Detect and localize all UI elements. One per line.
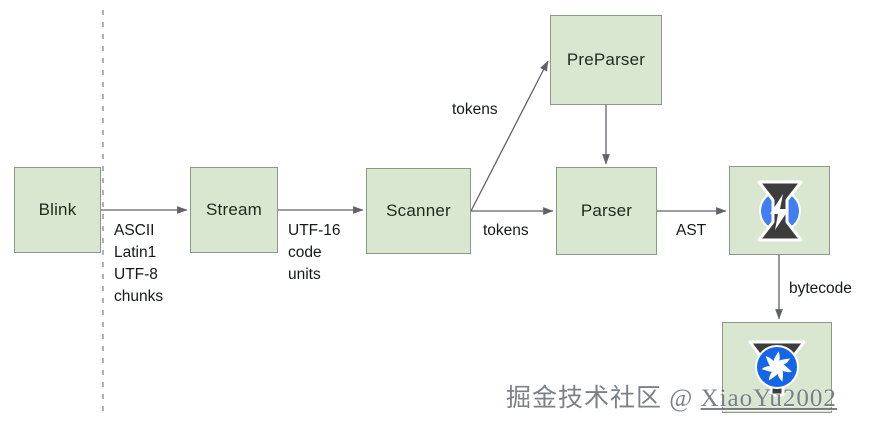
node-scanner-label: Scanner: [386, 201, 451, 221]
node-parser-label: Parser: [581, 201, 632, 221]
diagram-canvas: Blink Stream Scanner PreParser Parser: [0, 0, 874, 429]
edge-label-blink-stream: ASCII Latin1 UTF-8 chunks: [114, 220, 163, 308]
node-preparser[interactable]: PreParser: [550, 15, 662, 105]
edge-scanner-to-preparser: [471, 61, 548, 211]
node-scanner[interactable]: Scanner: [366, 168, 471, 254]
edge-label-scanner-parser: tokens: [483, 220, 529, 242]
node-blink-label: Blink: [39, 200, 77, 220]
node-ignition[interactable]: [729, 166, 830, 255]
node-stream-label: Stream: [206, 200, 262, 220]
watermark-handle: XiaoYu2002: [701, 385, 837, 412]
edge-label-ignition-turbofan: bytecode: [789, 278, 852, 300]
edge-label-scanner-preparser: tokens: [452, 99, 498, 121]
node-preparser-label: PreParser: [567, 50, 645, 70]
edge-label-stream-scanner: UTF-16 code units: [288, 220, 341, 286]
watermark-site: 掘金技术社区: [506, 385, 662, 412]
ignition-logo-icon: [730, 167, 829, 254]
node-blink[interactable]: Blink: [14, 167, 101, 253]
node-stream[interactable]: Stream: [190, 167, 278, 253]
watermark: 掘金技术社区 @ XiaoYu2002: [506, 378, 837, 414]
edge-label-parser-ignition: AST: [676, 220, 706, 242]
node-parser[interactable]: Parser: [556, 167, 657, 255]
watermark-at: @: [669, 385, 693, 412]
